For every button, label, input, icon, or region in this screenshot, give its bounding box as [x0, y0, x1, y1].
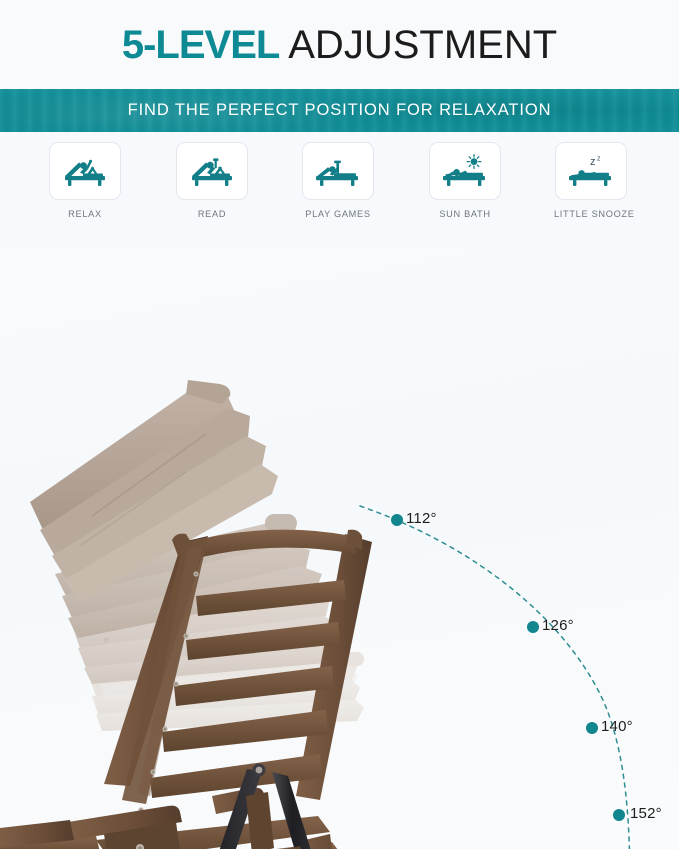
use-case-read[interactable]: READ: [175, 142, 249, 219]
icon-box-little-snooze: z z: [555, 142, 627, 200]
use-case-play-games[interactable]: PLAY GAMES: [301, 142, 375, 219]
icon-box-sun-bath: [429, 142, 501, 200]
banner-text: FIND THE PERFECT POSITION FOR RELAXATION: [128, 101, 552, 120]
recline-angle-arc: [360, 506, 630, 849]
use-case-label-sun-bath: SUN BATH: [428, 209, 502, 219]
use-case-sun-bath[interactable]: SUN BATH: [428, 142, 502, 219]
subtitle-banner: FIND THE PERFECT POSITION FOR RELAXATION: [0, 89, 679, 132]
infographic-page: 5-LEVEL ADJUSTMENT FIND THE PERFECT POSI…: [0, 0, 679, 849]
person-sunbathing-with-sun-icon: [439, 152, 491, 190]
use-case-label-relax: RELAX: [48, 209, 122, 219]
person-relaxing-on-lounger-icon: [59, 152, 111, 190]
header: 5-LEVEL ADJUSTMENT: [0, 0, 679, 89]
use-case-label-little-snooze: LITTLE SNOOZE: [554, 209, 628, 219]
angle-label-152: 152°: [630, 805, 662, 822]
title-accent-text: 5-LEVEL: [122, 23, 279, 67]
svg-text:z: z: [597, 155, 601, 162]
angle-label-112: 112°: [406, 510, 437, 527]
person-reading-on-lounger-icon: [186, 152, 238, 190]
use-case-icon-strip: RELAX: [0, 132, 679, 244]
icon-box-play-games: [302, 142, 374, 200]
angle-label-140: 140°: [601, 718, 633, 735]
product-illustration: 112° 126° 140° 152° 180°: [0, 244, 679, 849]
svg-text:z: z: [590, 156, 596, 168]
person-gaming-on-lounger-icon: [312, 152, 364, 190]
angle-dot-126[interactable]: [527, 621, 539, 633]
use-case-little-snooze[interactable]: z z: [554, 142, 628, 219]
angle-dot-152[interactable]: [613, 809, 625, 821]
page-title: 5-LEVEL ADJUSTMENT: [122, 25, 557, 65]
icon-box-relax: [49, 142, 121, 200]
angle-dot-140[interactable]: [586, 722, 598, 734]
angle-label-126: 126°: [542, 617, 574, 634]
angle-dot-112[interactable]: [391, 514, 403, 526]
use-case-label-read: READ: [175, 209, 249, 219]
chaise-lounge-recline-diagram: [0, 244, 679, 849]
title-rest-text: ADJUSTMENT: [279, 23, 557, 67]
use-case-label-play-games: PLAY GAMES: [301, 209, 375, 219]
person-sleeping-zzz-icon: z z: [565, 152, 617, 190]
use-case-relax[interactable]: RELAX: [48, 142, 122, 219]
icon-box-read: [176, 142, 248, 200]
